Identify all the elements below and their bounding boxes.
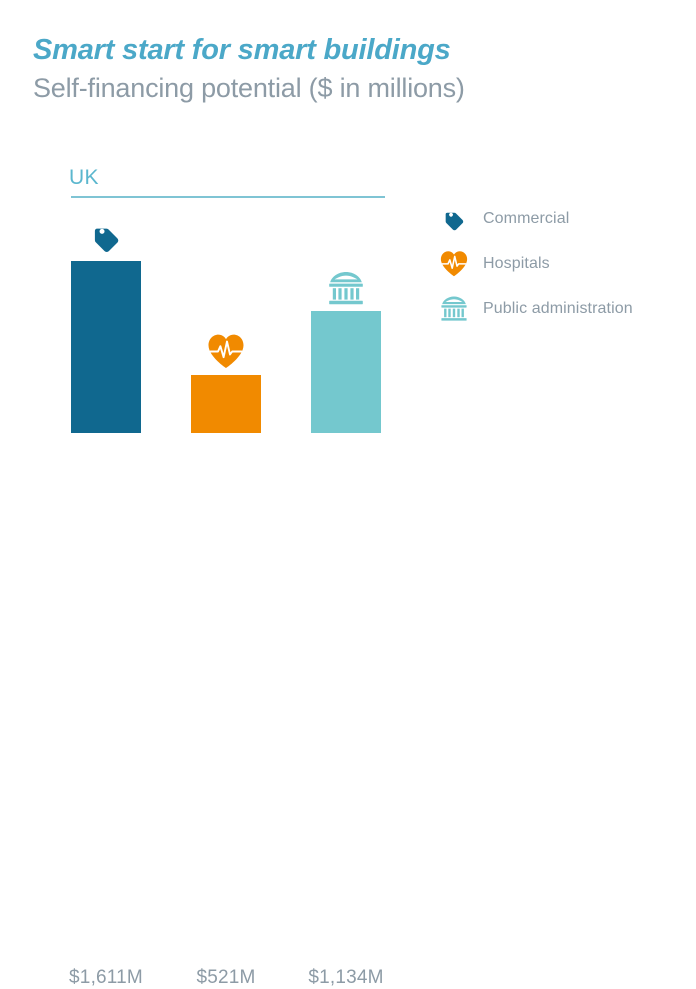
- bar-public-administration[interactable]: [311, 311, 381, 433]
- bank-building-icon: [311, 269, 381, 307]
- bar-hospitals[interactable]: [191, 375, 261, 433]
- bank-building-icon: [437, 292, 471, 326]
- price-tag-icon: [71, 217, 141, 257]
- price-tag-icon: [437, 202, 471, 236]
- heart-pulse-icon: [191, 332, 261, 370]
- legend-label-commercial: Commercial: [483, 210, 569, 228]
- bar-commercial[interactable]: [71, 261, 141, 433]
- legend-label-hospitals: Hospitals: [483, 255, 550, 273]
- bar-value-commercial: $1,611M: [56, 967, 156, 989]
- heart-pulse-icon: [437, 247, 471, 281]
- bar-value-hospitals: $521M: [176, 967, 276, 989]
- legend-item-public-administration[interactable]: Public administration: [437, 286, 687, 331]
- legend-label-public-administration: Public administration: [483, 300, 633, 318]
- legend: Commercial Hospitals: [437, 196, 687, 331]
- legend-item-hospitals[interactable]: Hospitals: [437, 241, 687, 286]
- bar-value-public-administration: $1,134M: [296, 967, 396, 989]
- legend-item-commercial[interactable]: Commercial: [437, 196, 687, 241]
